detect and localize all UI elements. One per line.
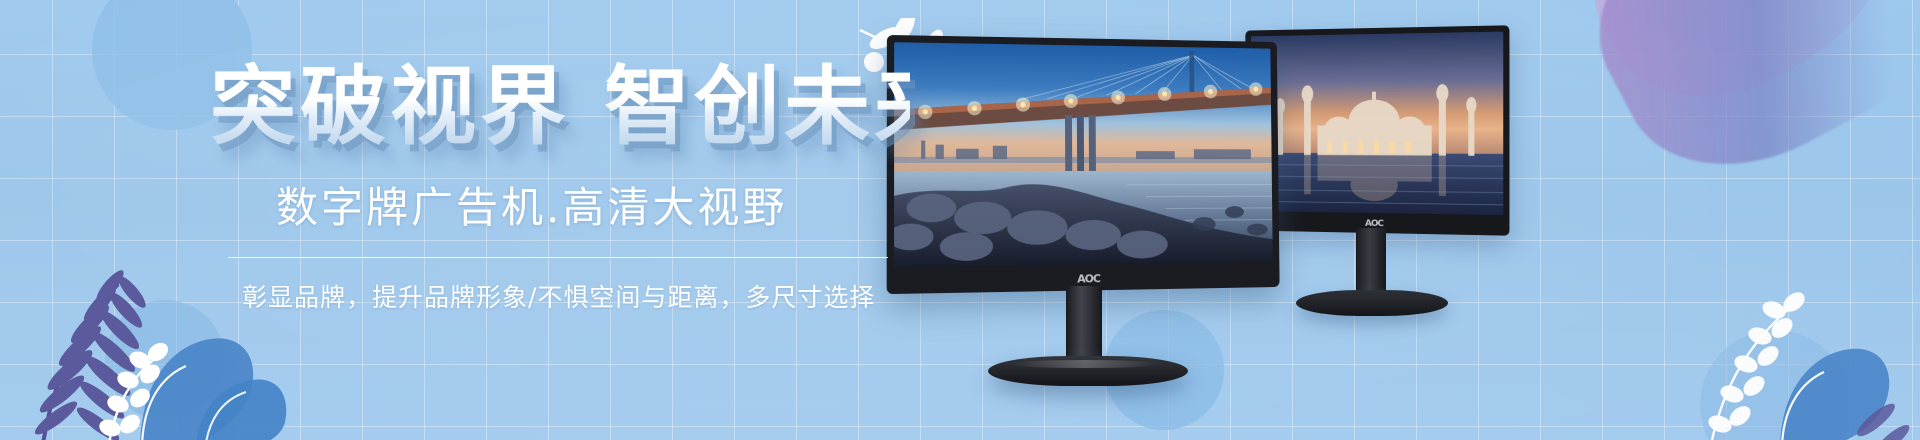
page-title: 突破视界 智创未来 [210, 62, 910, 152]
monitor-secondary-stand-base [1296, 290, 1448, 316]
monitor-secondary-stand-neck [1356, 228, 1386, 296]
product-banner: 突破视界 智创未来 数字牌广告机.高清大视野 彰显品牌，提升品牌形象/不惧空间与… [0, 0, 1920, 440]
divider [228, 257, 888, 258]
monitor-primary-stand-neck [1066, 286, 1102, 364]
tagline: 彰显品牌，提升品牌形象/不惧空间与距离，多尺寸选择 [242, 278, 910, 314]
aoc-logo-primary: AOC [1077, 272, 1100, 285]
subtitle: 数字牌广告机.高清大视野 [276, 174, 910, 235]
monitor-group: AOC [880, 0, 1920, 440]
headline-block: 突破视界 智创未来 数字牌广告机.高清大视野 彰显品牌，提升品牌形象/不惧空间与… [210, 62, 910, 314]
monitor-primary-base-highlight [1010, 360, 1160, 368]
